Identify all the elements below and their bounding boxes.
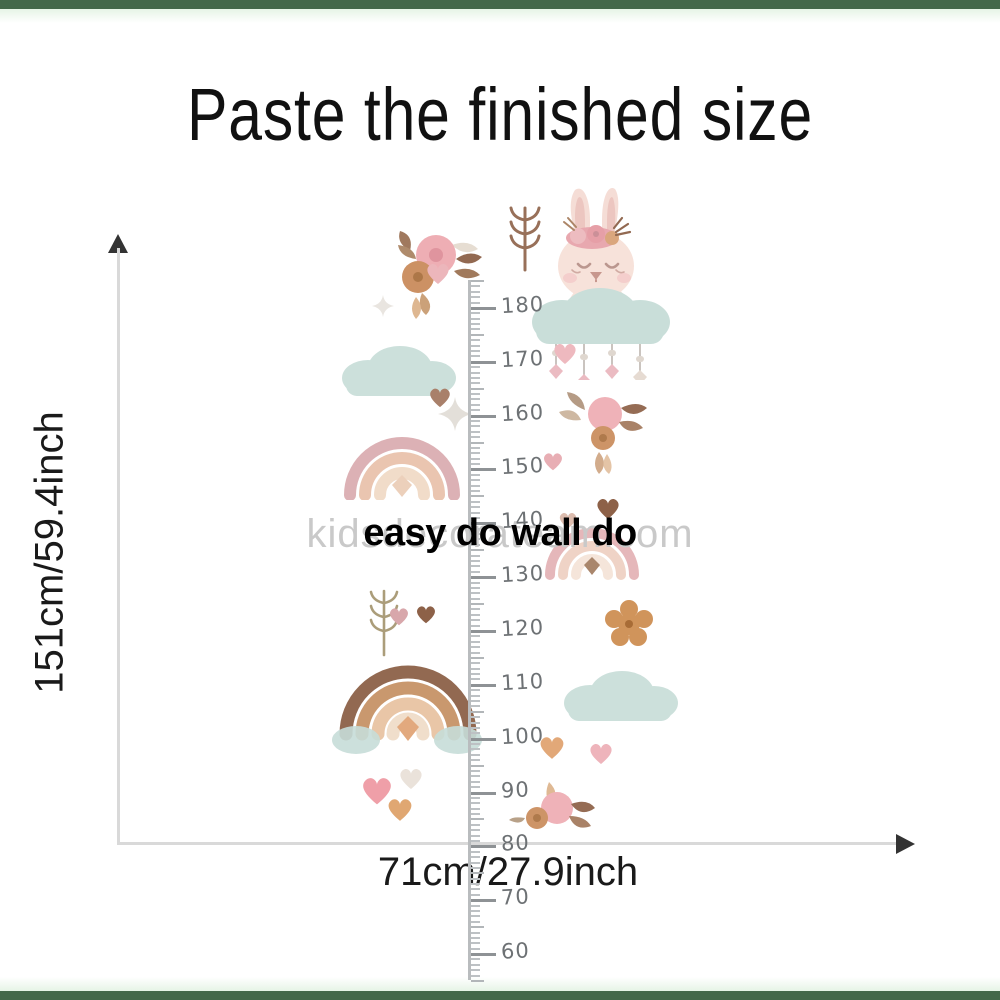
ruler-tick	[471, 700, 480, 702]
ruler-tick	[471, 468, 496, 471]
ruler-tick	[471, 571, 480, 573]
ruler-tick	[471, 835, 480, 837]
ruler-tick	[471, 285, 480, 287]
ruler-tick	[471, 862, 480, 864]
ruler-tick	[471, 878, 480, 880]
ruler-tick	[471, 495, 484, 497]
ruler-tick-label: 60	[500, 938, 530, 963]
ruler-tick	[471, 867, 480, 869]
overlay-caption: easy do wall do	[0, 512, 1000, 555]
ruler-tick	[471, 894, 480, 896]
ruler-tick	[471, 797, 480, 799]
rainbow-brown	[330, 660, 485, 755]
ruler-tick	[471, 705, 480, 707]
ruler-tick	[471, 802, 480, 804]
ruler-tick-label: 100	[500, 723, 544, 749]
ruler-tick	[471, 576, 496, 579]
flower-orange	[605, 600, 653, 648]
ruler-tick	[471, 840, 480, 842]
ruler-tick	[471, 845, 496, 848]
ruler-tick	[471, 781, 480, 783]
ruler-tick	[471, 899, 496, 902]
ruler-tick	[471, 775, 480, 777]
ruler-tick	[471, 824, 480, 826]
page-title: Paste the finished size	[90, 78, 910, 152]
ruler-tick	[471, 910, 480, 912]
ruler-tick	[471, 608, 480, 610]
ruler-tick	[471, 641, 480, 643]
ruler-tick	[471, 921, 480, 923]
ruler-tick	[471, 377, 480, 379]
ruler-tick	[471, 425, 480, 427]
frame-band-top	[0, 0, 1000, 9]
ruler-tick	[471, 635, 480, 637]
ruler-tick	[471, 393, 480, 395]
ruler-tick-label: 160	[500, 399, 544, 425]
ruler-tick	[471, 662, 480, 664]
ruler-tick	[471, 748, 480, 750]
ruler-tick	[471, 334, 484, 336]
ruler-tick	[471, 958, 480, 960]
ruler-tick	[471, 382, 480, 384]
ruler-tick	[471, 388, 484, 390]
ruler-tick	[471, 808, 480, 810]
ruler-tick	[471, 302, 480, 304]
hearts	[425, 260, 451, 286]
ruler-tick	[471, 582, 480, 584]
ruler-tick	[471, 409, 480, 411]
ruler-tick	[471, 937, 480, 939]
sparkle-star	[372, 295, 394, 317]
ruler-tick	[471, 619, 480, 621]
cloud-mint-lower	[560, 665, 680, 727]
ruler-tick	[471, 318, 480, 320]
ruler-tick	[471, 415, 496, 418]
hearts	[386, 795, 414, 823]
hearts	[588, 740, 614, 766]
ruler-tick	[471, 646, 480, 648]
ruler-tick	[471, 888, 480, 890]
ruler-tick	[471, 969, 480, 971]
ruler-tick	[471, 350, 480, 352]
ruler-tick	[471, 818, 484, 820]
ruler-tick	[471, 501, 480, 503]
hearts	[428, 385, 452, 409]
ruler-tick	[471, 361, 496, 364]
frame-band-bottom	[0, 991, 1000, 1000]
ruler-tick	[471, 722, 480, 724]
ruler-tick	[471, 975, 480, 977]
ruler-tick	[471, 759, 480, 761]
ruler-tick-label: 110	[500, 669, 544, 695]
ruler-tick	[471, 431, 480, 433]
ruler-tick	[471, 678, 480, 680]
floral-bouquet-mid	[555, 380, 660, 480]
ruler-tick	[471, 980, 484, 982]
ruler-tick	[471, 851, 480, 853]
ruler-tick	[471, 684, 496, 687]
fern-sprig-brown	[500, 200, 550, 280]
ruler-tick	[471, 792, 496, 795]
ruler-tick	[471, 630, 496, 633]
ruler-tick	[471, 587, 480, 589]
ruler-tick	[471, 695, 480, 697]
ruler-tick	[471, 732, 480, 734]
ruler-tick	[471, 716, 480, 718]
product-image: Paste the finished size 151cm/59.4inch 7…	[0, 0, 1000, 1000]
ruler-tick	[471, 452, 480, 454]
ruler-tick	[471, 743, 480, 745]
ruler-tick	[471, 506, 480, 508]
ruler-tick	[471, 366, 480, 368]
ruler-tick	[471, 754, 480, 756]
ruler-tick	[471, 442, 484, 444]
ruler-tick	[471, 474, 480, 476]
ruler-tick	[471, 339, 480, 341]
ruler-tick-label: 120	[500, 615, 544, 641]
ruler-tick	[471, 420, 480, 422]
ruler-tick	[471, 905, 480, 907]
wall-sticker-artwork: 18017016015014013012011010090807060	[320, 175, 720, 830]
ruler-tick	[471, 458, 480, 460]
ruler-tick	[471, 463, 480, 465]
ruler-tick	[471, 312, 480, 314]
ruler-tick	[471, 926, 484, 928]
ruler-tick	[471, 829, 480, 831]
ruler-tick	[471, 603, 484, 605]
ruler-tick-label: 130	[500, 561, 544, 587]
ruler-tick	[471, 883, 480, 885]
ruler-tick	[471, 770, 480, 772]
ruler-tick	[471, 765, 484, 767]
hearts	[398, 765, 424, 791]
ruler-tick-label: 170	[500, 346, 544, 372]
ruler-tick	[471, 372, 480, 374]
ruler-tick	[471, 786, 480, 788]
ruler-tick	[471, 872, 484, 874]
ruler-tick	[471, 485, 480, 487]
ruler-tick	[471, 657, 484, 659]
ruler-tick	[471, 345, 480, 347]
ruler-tick	[471, 436, 480, 438]
ruler-tick	[471, 565, 480, 567]
hearts	[415, 603, 437, 625]
ruler-tick	[471, 625, 480, 627]
ruler-tick	[471, 592, 480, 594]
ruler-tick	[471, 915, 480, 917]
ruler-tick	[471, 652, 480, 654]
ruler-tick	[471, 291, 480, 293]
ruler-tick	[471, 490, 480, 492]
ruler-tick	[471, 307, 496, 310]
frame-fade-top	[0, 9, 1000, 23]
ruler-tick-label: 90	[500, 777, 530, 802]
hearts	[552, 340, 578, 366]
ruler-tick	[471, 598, 480, 600]
ruler-tick	[471, 323, 480, 325]
horizontal-arrow-icon	[896, 834, 915, 854]
ruler-tick	[471, 711, 484, 713]
ruler-tick	[471, 614, 480, 616]
ruler-tick-label: 180	[500, 292, 544, 318]
ruler-tick	[471, 355, 480, 357]
ruler-tick	[471, 328, 480, 330]
ruler-tick	[471, 813, 480, 815]
height-ruler: 18017016015014013012011010090807060	[468, 280, 538, 980]
ruler-tick	[471, 932, 480, 934]
ruler-tick	[471, 447, 480, 449]
ruler-tick-label: 70	[500, 884, 530, 909]
ruler-tick	[471, 964, 480, 966]
ruler-tick	[471, 856, 480, 858]
hearts	[542, 450, 564, 472]
ruler-tick	[471, 479, 480, 481]
ruler-tick-label: 150	[500, 453, 544, 479]
ruler-tick-label: 80	[500, 831, 530, 856]
ruler-tick	[471, 404, 480, 406]
rainbow-pastel	[340, 425, 465, 500]
ruler-tick	[471, 942, 480, 944]
ruler-tick	[471, 953, 496, 956]
ruler-tick	[471, 948, 480, 950]
ruler-tick	[471, 668, 480, 670]
ruler-tick	[471, 560, 480, 562]
ruler-tick	[471, 673, 480, 675]
ruler-tick	[471, 689, 480, 691]
ruler-tick	[471, 296, 480, 298]
ruler-tick	[471, 727, 480, 729]
ruler-tick	[471, 738, 496, 741]
hearts	[388, 605, 410, 627]
ruler-tick	[471, 280, 484, 282]
ruler-tick	[471, 398, 480, 400]
